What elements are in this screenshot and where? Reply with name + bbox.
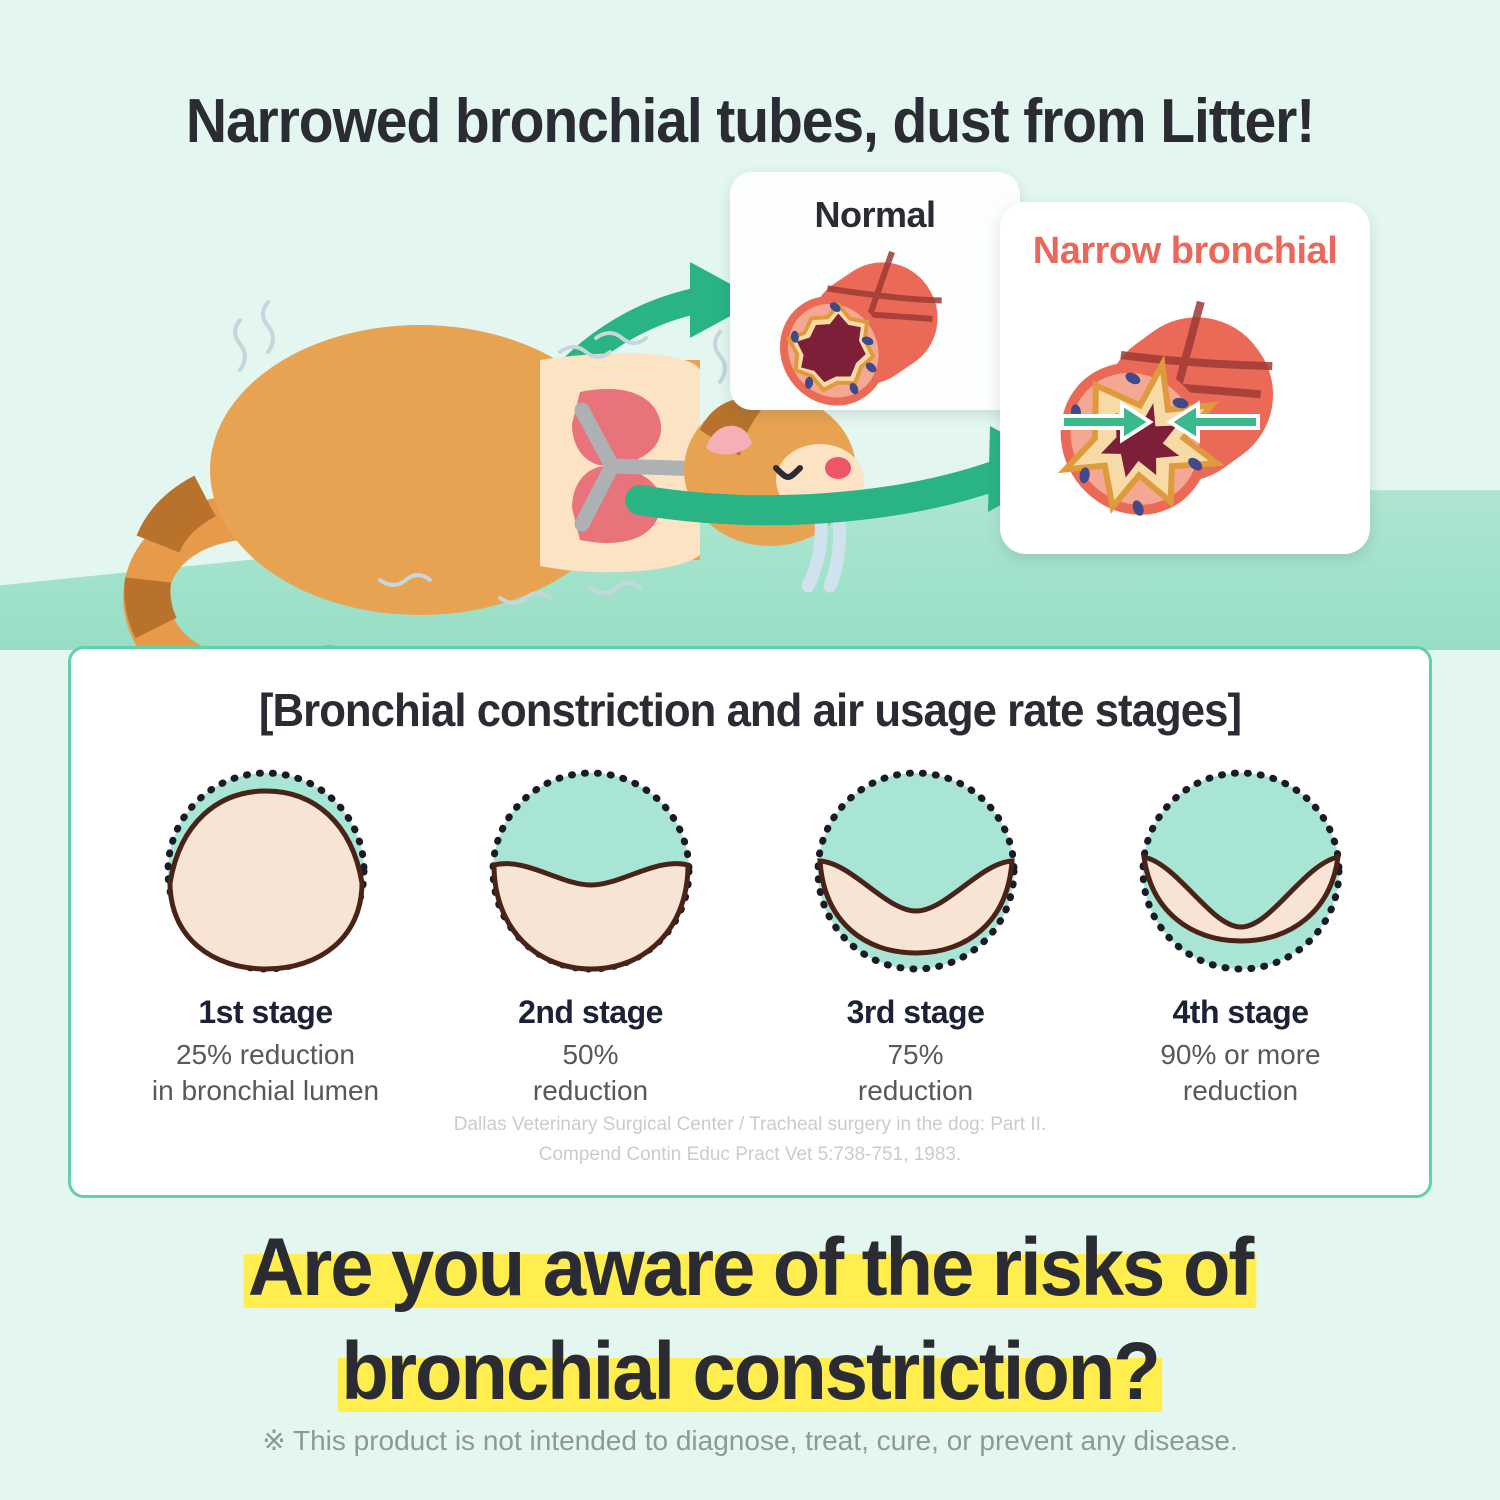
lumen-stage-4-icon bbox=[1131, 761, 1351, 981]
lumen-stage-3-icon bbox=[806, 761, 1026, 981]
cta-line-1: Are you aware of the risks of bbox=[38, 1222, 1463, 1314]
stage-desc-3: 75% reduction bbox=[766, 1037, 1066, 1109]
lumen-stage-1-icon bbox=[156, 761, 376, 981]
infographic-root: Narrowed bronchial tubes, dust from Litt… bbox=[0, 0, 1500, 1500]
panel-heading: [Bronchial constriction and air usage ra… bbox=[105, 683, 1395, 737]
stage-name-2: 2nd stage bbox=[441, 994, 741, 1031]
cta-block: Are you aware of the risks of bronchial … bbox=[0, 1222, 1500, 1418]
stage-column-4: 4th stage 90% or more reduction bbox=[1091, 761, 1391, 1109]
lumen-stage-2-icon bbox=[481, 761, 701, 981]
stage-column-3: 3rd stage 75% reduction bbox=[766, 761, 1066, 1109]
stage-name-3: 3rd stage bbox=[766, 994, 1066, 1031]
stage-name-1: 1st stage bbox=[116, 994, 416, 1031]
stages-panel: [Bronchial constriction and air usage ra… bbox=[68, 646, 1432, 1198]
disclaimer: ※ This product is not intended to diagno… bbox=[0, 1424, 1500, 1457]
stage-desc-1: 25% reduction in bronchial lumen bbox=[116, 1037, 416, 1109]
card-narrow: Narrow bronchial bbox=[1000, 202, 1370, 554]
bronchial-tube-narrow-icon bbox=[1000, 276, 1370, 546]
card-narrow-title: Narrow bronchial bbox=[1000, 230, 1370, 273]
bronchial-tube-normal-icon bbox=[730, 230, 1020, 410]
cta-line-1-text: Are you aware of the risks of bbox=[244, 1222, 1256, 1314]
stage-desc-2: 50% reduction bbox=[441, 1037, 741, 1109]
cta-line-2-text: bronchial constriction? bbox=[337, 1326, 1162, 1418]
stage-column-1: 1st stage 25% reduction in bronchial lum… bbox=[116, 761, 416, 1109]
card-normal: Normal bbox=[730, 172, 1020, 410]
stage-column-2: 2nd stage 50% reduction bbox=[441, 761, 741, 1109]
stage-desc-4: 90% or more reduction bbox=[1091, 1037, 1391, 1109]
stage-list: 1st stage 25% reduction in bronchial lum… bbox=[103, 761, 1403, 1109]
citation: Dallas Veterinary Surgical Center / Trac… bbox=[71, 1110, 1429, 1169]
stage-name-4: 4th stage bbox=[1091, 994, 1391, 1031]
cta-line-2: bronchial constriction? bbox=[38, 1326, 1463, 1418]
